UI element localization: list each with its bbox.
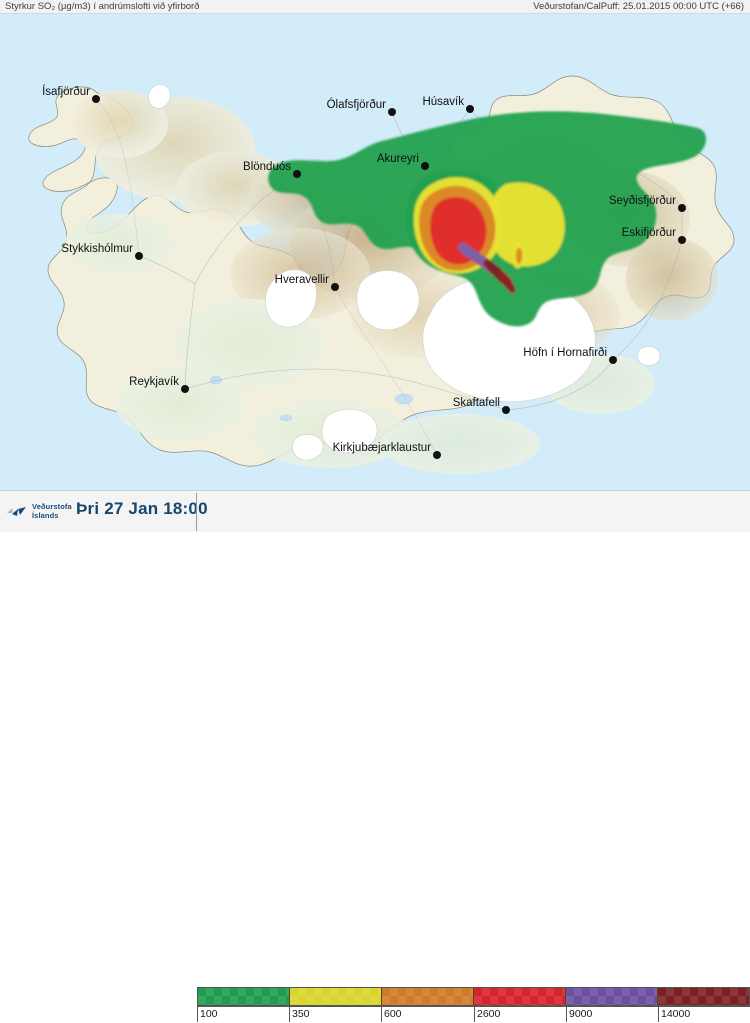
city-label-kirkjubaejarklaustur: Kirkjubæjarklaustur	[333, 442, 432, 454]
city-dot	[135, 252, 143, 260]
legend-swatch-2600	[474, 988, 566, 1005]
footer-divider	[196, 493, 197, 531]
city-dot	[609, 356, 617, 364]
legend-label-350: 350	[292, 1008, 310, 1020]
city-dot	[466, 105, 474, 113]
city-dot	[331, 283, 339, 291]
glacier-hofsjokull	[357, 271, 419, 330]
header-title-left: Styrkur SO₂ (µg/m3) í andrúmslofti við y…	[5, 1, 199, 12]
header-bar: Styrkur SO₂ (µg/m3) í andrúmslofti við y…	[0, 0, 750, 14]
city-label-skaftafell: Skaftafell	[453, 397, 500, 409]
city-dot	[433, 451, 441, 459]
so2-forecast-map-page: Styrkur SO₂ (µg/m3) í andrúmslofti við y…	[0, 0, 750, 532]
map-svg: Ísafjörður Ólafsfjörður Húsavík Blönduós…	[0, 14, 750, 490]
legend-color-bar	[197, 987, 750, 1006]
city-label-hofn: Höfn í Hornafirði	[523, 347, 607, 359]
city-dot	[678, 204, 686, 212]
city-label-isafjordur: Ísafjörður	[42, 85, 90, 98]
glacier-snaefell	[638, 346, 661, 365]
city-dot	[181, 385, 189, 393]
city-label-eskifjordur: Eskifjörður	[622, 227, 676, 239]
city-label-husavik: Húsavík	[422, 96, 464, 108]
city-dot	[678, 236, 686, 244]
legend-label-600: 600	[384, 1008, 402, 1020]
legend-swatch-14000	[658, 988, 749, 1005]
city-label-seydisfjordur: Seyðisfjörður	[609, 195, 676, 207]
vedurstofa-logo[interactable]: Veðurstofa Íslands	[6, 500, 70, 524]
legend-label-100: 100	[200, 1008, 218, 1020]
legend-swatch-600	[382, 988, 474, 1005]
city-label-blonduos: Blönduós	[243, 161, 291, 173]
so2-legend: 100 350 600 2600 9000 14000	[197, 987, 750, 1023]
city-label-stykkisholmur: Stykkishólmur	[61, 243, 133, 255]
city-label-reykjavik: Reykjavík	[129, 376, 179, 388]
logo-line-1: Veðurstofa	[32, 502, 72, 511]
map-canvas[interactable]: Ísafjörður Ólafsfjörður Húsavík Blönduós…	[0, 14, 750, 490]
legend-label-14000: 14000	[661, 1008, 690, 1020]
city-dot	[421, 162, 429, 170]
city-dot	[293, 170, 301, 178]
vedurstofa-logo-icon	[6, 503, 30, 520]
city-label-hveravellir: Hveravellir	[275, 274, 329, 286]
forecast-timestamp: Þri 27 Jan 18:00	[76, 499, 208, 519]
footer-bar: Veðurstofa Íslands Þri 27 Jan 18:00	[0, 490, 750, 532]
legend-swatch-350	[290, 988, 382, 1005]
city-label-olafsfjordur: Ólafsfjörður	[327, 98, 387, 111]
legend-swatch-9000	[566, 988, 658, 1005]
legend-label-9000: 9000	[569, 1008, 592, 1020]
logo-line-2: Íslands	[32, 511, 72, 520]
city-dot	[388, 108, 396, 116]
legend-label-2600: 2600	[477, 1008, 500, 1020]
city-label-akureyri: Akureyri	[377, 153, 419, 165]
header-title-right: Veðurstofan/CalPuff: 25.01.2015 00:00 UT…	[533, 1, 744, 12]
legend-swatch-100	[198, 988, 290, 1005]
vedurstofa-logo-text: Veðurstofa Íslands	[32, 502, 72, 520]
glacier-eyjafjalla	[292, 435, 323, 460]
city-dot	[502, 406, 510, 414]
legend-tick-labels: 100 350 600 2600 9000 14000	[197, 1006, 750, 1022]
city-dot	[92, 95, 100, 103]
